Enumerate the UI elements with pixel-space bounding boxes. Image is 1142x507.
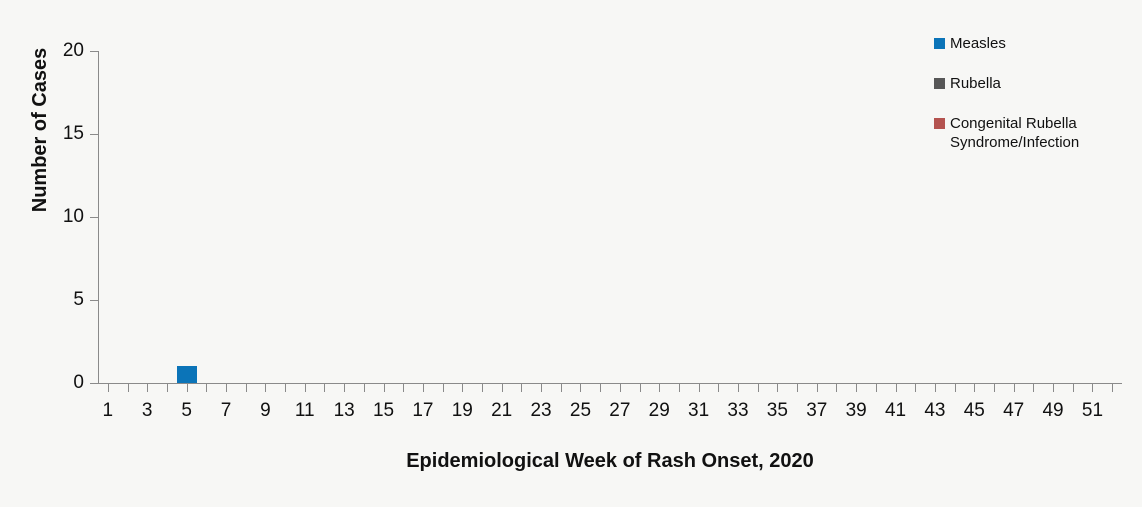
x-axis-tick <box>344 384 345 392</box>
x-axis-label: 3 <box>127 400 167 422</box>
legend-swatch-icon <box>934 78 945 89</box>
y-axis-label: 0 <box>30 373 84 392</box>
x-axis-label: 37 <box>797 400 837 422</box>
x-axis-tick <box>502 384 503 392</box>
x-axis-tick <box>659 384 660 392</box>
x-axis-tick <box>718 384 719 392</box>
x-axis-tick <box>974 384 975 392</box>
x-axis-tick <box>817 384 818 392</box>
x-axis-tick <box>147 384 148 392</box>
x-axis-tick <box>876 384 877 392</box>
x-axis-label: 25 <box>560 400 600 422</box>
x-axis-label: 21 <box>482 400 522 422</box>
x-axis-label: 29 <box>639 400 679 422</box>
y-axis-tick <box>90 217 98 218</box>
legend-swatch-icon <box>934 118 945 129</box>
legend-label: Congenital Rubella Syndrome/Infection <box>950 114 1079 152</box>
x-axis-tick <box>1073 384 1074 392</box>
legend-label: Measles <box>950 34 1006 53</box>
x-axis-tick <box>896 384 897 392</box>
x-axis-tick <box>285 384 286 392</box>
x-axis-label: 5 <box>167 400 207 422</box>
x-axis-label: 27 <box>600 400 640 422</box>
x-axis-tick <box>797 384 798 392</box>
x-axis-tick <box>246 384 247 392</box>
x-axis-tick <box>777 384 778 392</box>
x-axis-tick <box>640 384 641 392</box>
x-axis-tick <box>206 384 207 392</box>
x-axis-tick <box>462 384 463 392</box>
x-axis-tick <box>541 384 542 392</box>
x-axis-tick <box>167 384 168 392</box>
chart-container: Number of Cases 05101520 135791113151719… <box>0 0 1142 507</box>
x-axis-tick <box>836 384 837 392</box>
x-axis-tick <box>187 384 188 392</box>
x-axis-label: 17 <box>403 400 443 422</box>
legend-swatch-icon <box>934 38 945 49</box>
x-axis-tick <box>324 384 325 392</box>
x-axis-tick <box>1033 384 1034 392</box>
chart-legend: MeaslesRubellaCongenital Rubella Syndrom… <box>934 34 1142 173</box>
x-axis-tick <box>128 384 129 392</box>
x-axis-tick <box>994 384 995 392</box>
x-axis-label: 47 <box>994 400 1034 422</box>
x-axis-label: 23 <box>521 400 561 422</box>
x-axis-label: 7 <box>206 400 246 422</box>
x-axis-label: 1 <box>88 400 128 422</box>
x-axis-title: Epidemiological Week of Rash Onset, 2020 <box>98 448 1122 474</box>
x-axis-label: 11 <box>285 400 325 422</box>
y-axis-tick <box>90 383 98 384</box>
x-axis-tick <box>443 384 444 392</box>
x-axis-tick <box>521 384 522 392</box>
x-axis-tick <box>423 384 424 392</box>
x-axis-label: 51 <box>1072 400 1112 422</box>
x-axis-tick <box>1112 384 1113 392</box>
x-axis-tick <box>1014 384 1015 392</box>
legend-item[interactable]: Measles <box>934 34 1142 53</box>
x-axis-tick <box>955 384 956 392</box>
x-axis-tick <box>108 384 109 392</box>
x-axis-tick <box>226 384 227 392</box>
legend-label: Rubella <box>950 74 1001 93</box>
x-axis-tick <box>1053 384 1054 392</box>
x-axis-tick <box>915 384 916 392</box>
x-axis-tick <box>482 384 483 392</box>
legend-item[interactable]: Congenital Rubella Syndrome/Infection <box>934 114 1142 152</box>
legend-item[interactable]: Rubella <box>934 74 1142 93</box>
y-axis-label: 20 <box>30 41 84 60</box>
x-axis-tick <box>561 384 562 392</box>
y-axis-tick <box>90 300 98 301</box>
y-axis-label: 15 <box>30 124 84 143</box>
bar <box>177 366 197 383</box>
x-axis-tick <box>364 384 365 392</box>
x-axis-tick <box>403 384 404 392</box>
x-axis-tick <box>699 384 700 392</box>
x-axis-label: 15 <box>364 400 404 422</box>
x-axis-tick <box>620 384 621 392</box>
x-axis-label: 19 <box>442 400 482 422</box>
x-axis-line <box>98 383 1122 384</box>
x-axis-label: 45 <box>954 400 994 422</box>
x-axis-tick <box>758 384 759 392</box>
x-axis-label: 33 <box>718 400 758 422</box>
x-axis-tick <box>679 384 680 392</box>
x-axis-tick <box>1092 384 1093 392</box>
y-axis-tick <box>90 51 98 52</box>
y-axis-label: 5 <box>30 290 84 309</box>
y-axis-label: 10 <box>30 207 84 226</box>
x-axis-tick <box>384 384 385 392</box>
x-axis-label: 35 <box>757 400 797 422</box>
x-axis-label: 41 <box>876 400 916 422</box>
y-axis-tick <box>90 134 98 135</box>
x-axis-tick <box>265 384 266 392</box>
x-axis-tick <box>935 384 936 392</box>
x-axis-label: 39 <box>836 400 876 422</box>
x-axis-tick <box>738 384 739 392</box>
x-axis-tick <box>856 384 857 392</box>
x-axis-tick <box>600 384 601 392</box>
x-axis-label: 43 <box>915 400 955 422</box>
x-axis-label: 13 <box>324 400 364 422</box>
x-axis-label: 9 <box>245 400 285 422</box>
x-axis-tick <box>305 384 306 392</box>
x-axis-label: 31 <box>679 400 719 422</box>
x-axis-tick <box>580 384 581 392</box>
x-axis-label: 49 <box>1033 400 1073 422</box>
